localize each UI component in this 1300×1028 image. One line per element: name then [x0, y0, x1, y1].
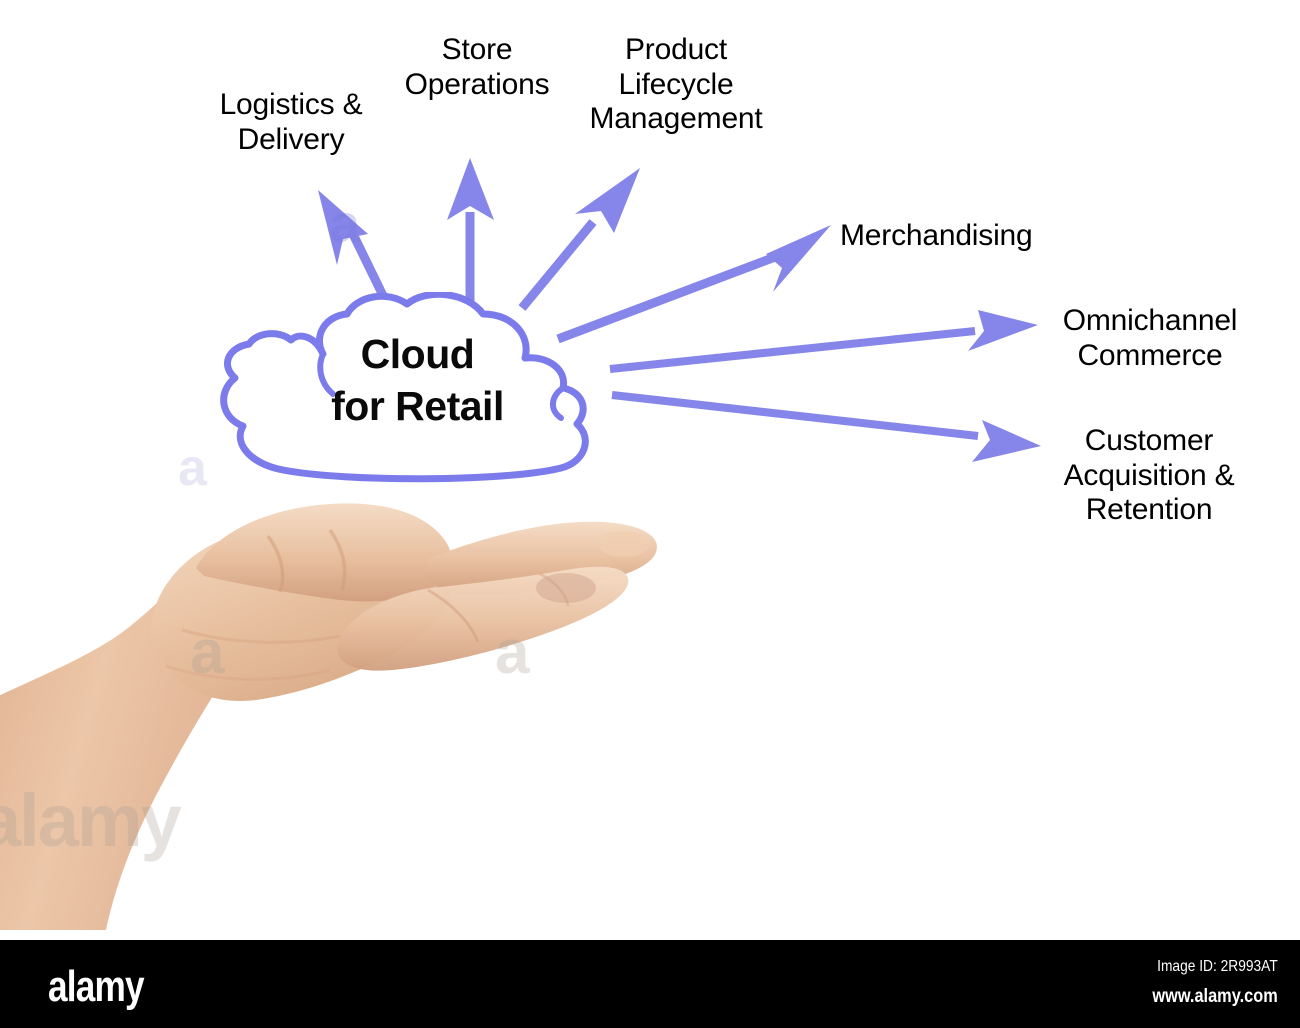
footer-meta: Image ID: 2R993AT www.alamy.com [1132, 958, 1278, 1008]
diagram-canvas: Cloud for Retail [0, 0, 1300, 940]
arrow-to-store-operations [447, 158, 494, 303]
spoke-label-store-operations: Store Operations [388, 33, 566, 102]
hand-illustration [0, 470, 700, 930]
fingertip-highlight [598, 531, 650, 557]
alamy-logo[interactable]: alamy [48, 962, 144, 1012]
cloud-shape: Cloud for Retail [205, 292, 630, 492]
spoke-label-logistics: Logistics & Delivery [196, 88, 386, 157]
spoke-label-merchandising: Merchandising [840, 219, 1090, 254]
spoke-label-customer-acquisition-retention: Customer Acquisition & Retention [1040, 424, 1258, 528]
stock-footer-bar: alamy Image ID: 2R993AT www.alamy.com [0, 940, 1300, 1028]
arrow-to-omnichannel [610, 310, 1038, 369]
screenshot-root: Cloud for Retail [0, 0, 1300, 1028]
spoke-label-product-lifecycle-management: Product Lifecycle Management [570, 33, 782, 137]
spoke-label-omnichannel-commerce: Omnichannel Commerce [1042, 304, 1258, 373]
arrow-to-product-lifecycle [522, 168, 640, 308]
image-id-text: Image ID: 2R993AT [1153, 958, 1278, 976]
fingertip-shadow [536, 573, 596, 603]
arrow-to-customer [612, 395, 1041, 462]
alamy-url-text[interactable]: www.alamy.com [1153, 986, 1278, 1008]
cloud-outline-icon [205, 292, 630, 492]
